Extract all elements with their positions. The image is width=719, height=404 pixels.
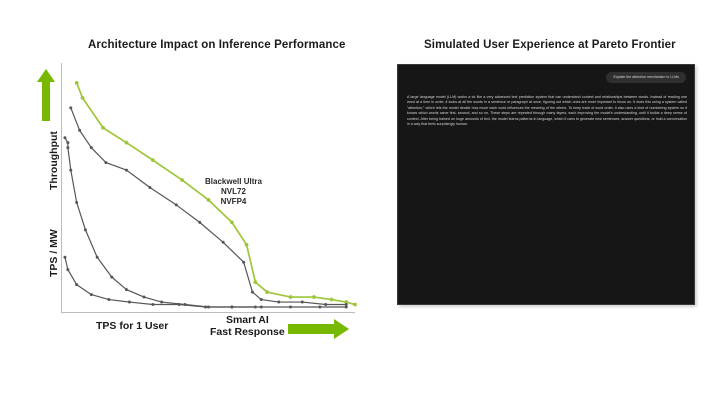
preview-title: Simulated User Experience at Pareto Fron… (424, 39, 676, 51)
series-marker (301, 301, 304, 304)
series-marker (180, 178, 184, 182)
chart-title: Architecture Impact on Inference Perform… (88, 39, 345, 51)
series-marker (66, 141, 69, 144)
x-axis-label-tps-for-1-user: TPS for 1 User (96, 320, 168, 332)
series-marker (151, 158, 155, 162)
series-marker (345, 306, 348, 309)
series-marker (251, 291, 254, 294)
series-marker (69, 169, 72, 172)
series-marker (143, 296, 146, 299)
series-marker (289, 306, 292, 309)
series-marker (125, 141, 129, 145)
series-marker (96, 256, 99, 259)
series-marker (245, 243, 249, 247)
series-marker (75, 283, 78, 286)
series-marker (198, 221, 201, 224)
series-marker (125, 169, 128, 172)
slide-root: Architecture Impact on Inference Perform… (0, 0, 719, 404)
series-marker (90, 146, 93, 149)
user-prompt-bubble: Explain the attention mechanism in LLMs (606, 72, 686, 83)
inference-performance-chart: Throughput TPS / MW Blackwell Ultra NVL7… (0, 55, 380, 355)
series-marker (253, 280, 257, 284)
series-marker (101, 126, 105, 130)
series-marker (318, 306, 321, 309)
assistant-response-text: A large language model (LLM) works a lot… (407, 95, 687, 127)
series-marker (125, 288, 128, 291)
x-axis-label-smart-ai-fast-response: Smart AI Fast Response (210, 314, 285, 338)
chart-series-layer (0, 55, 380, 355)
series-marker (178, 303, 181, 306)
series-marker (84, 228, 87, 231)
series-marker (63, 136, 66, 139)
series-marker (277, 301, 280, 304)
series-marker (75, 81, 79, 85)
series-marker (107, 298, 110, 301)
series-marker (90, 293, 93, 296)
series-marker (78, 129, 81, 132)
series-marker (204, 306, 207, 309)
series-marker (81, 96, 85, 100)
series-marker (66, 268, 69, 271)
series-marker (353, 303, 357, 307)
series-marker (151, 303, 154, 306)
series-line (65, 138, 255, 307)
series-marker (260, 306, 263, 309)
series-marker (128, 301, 131, 304)
series-marker (289, 295, 293, 299)
series-marker (330, 298, 334, 302)
series-marker (265, 290, 269, 294)
series-marker (175, 203, 178, 206)
series-marker (75, 201, 78, 204)
series-annotation-blackwell-ultra: Blackwell Ultra NVL72 NVFP4 (205, 177, 262, 207)
series-marker (69, 106, 72, 109)
series-marker (260, 298, 263, 301)
series-marker (230, 306, 233, 309)
series-marker (230, 220, 234, 224)
series-marker (160, 301, 163, 304)
series-marker (66, 146, 69, 149)
series-marker (63, 256, 66, 259)
series-marker (312, 295, 316, 299)
arrow-right-icon (288, 318, 350, 340)
series-line (65, 257, 346, 307)
series-marker (324, 303, 327, 306)
series-marker (222, 241, 225, 244)
simulated-chat-window[interactable]: Explain the attention mechanism in LLMs … (397, 64, 695, 305)
series-marker (242, 261, 245, 264)
series-marker (110, 276, 113, 279)
series-marker (104, 161, 107, 164)
series-marker (148, 186, 151, 189)
